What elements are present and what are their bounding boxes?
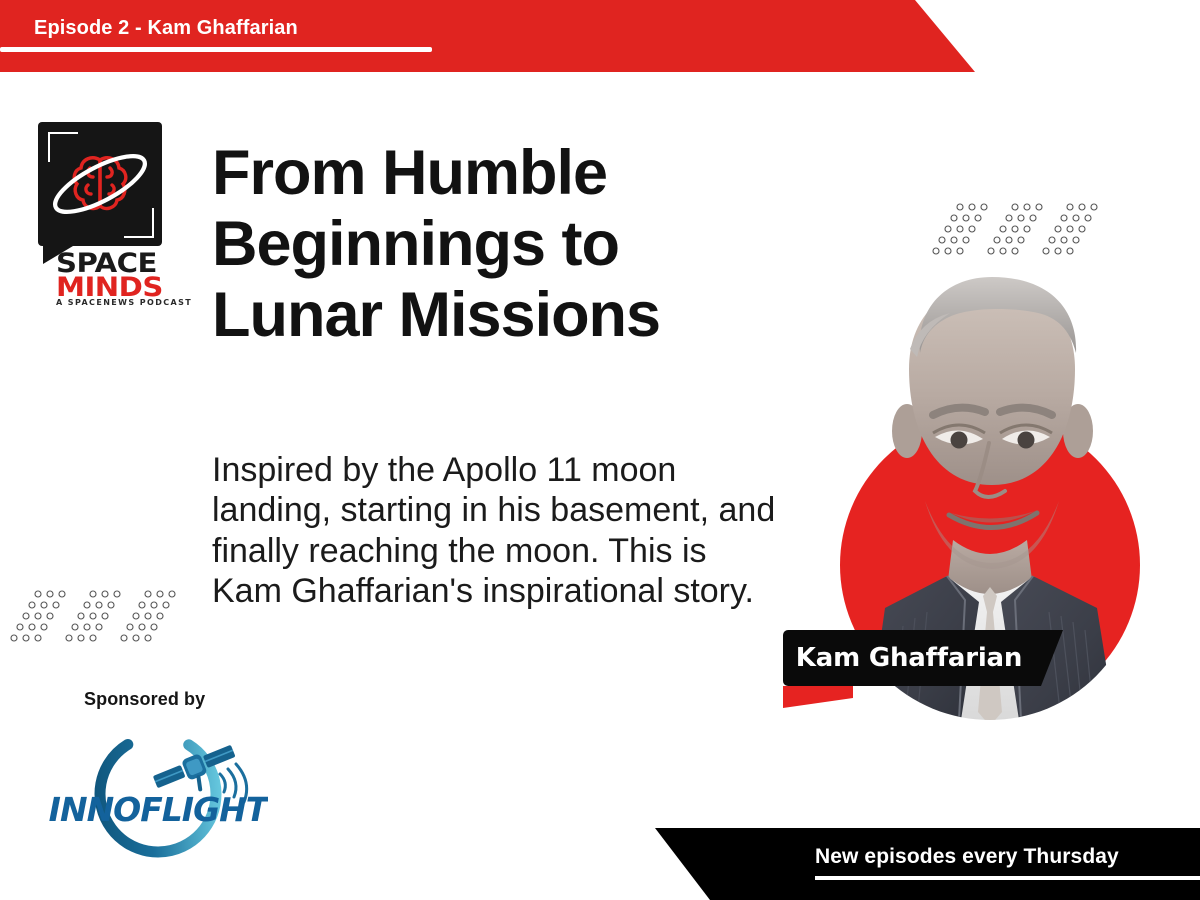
dot-pattern-decoration-left	[8, 585, 188, 645]
episode-label: Episode 2 - Kam Ghaffarian	[34, 17, 298, 40]
schedule-label: New episodes every Thursday	[815, 845, 1119, 869]
portrait-photo-head	[885, 263, 1100, 593]
podcast-promo-poster: Episode 2 - Kam Ghaffarian SPACE MINDS A…	[0, 0, 1200, 900]
episode-description: Inspired by the Apollo 11 moon landing, …	[212, 450, 784, 612]
page-title: From Humble Beginnings to Lunar Missions	[212, 138, 772, 352]
sponsored-by-label: Sponsored by	[84, 689, 205, 710]
footer-underline	[815, 876, 1200, 880]
header-underline	[0, 47, 432, 52]
brain-orbit-icon	[38, 122, 162, 246]
innoflight-logo: INNOFLIGHT	[48, 720, 268, 870]
dot-pattern-decoration-top	[930, 198, 1110, 258]
space-minds-logo: SPACE MINDS A SPACENEWS PODCAST	[38, 122, 162, 308]
guest-name-label: Kam Ghaffarian	[783, 630, 1035, 686]
innoflight-wordmark: INNOFLIGHT	[49, 790, 268, 829]
logo-tagline: A SPACENEWS PODCAST	[56, 298, 192, 307]
guest-name-badge: Kam Ghaffarian	[783, 630, 1063, 686]
